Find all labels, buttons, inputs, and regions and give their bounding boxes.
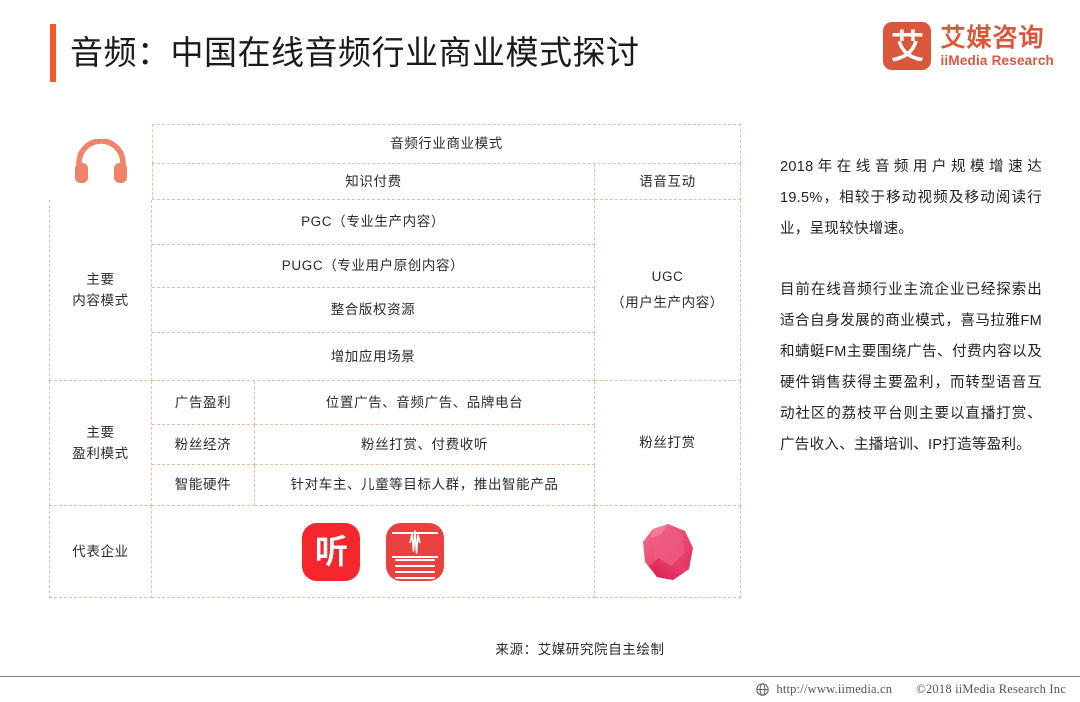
brand-logo: 艾 艾媒咨询 iiMedia Research	[883, 22, 1054, 70]
commentary-paragraph-1: 2018年在线音频用户规模增速达19.5%，相较于移动视频及移动阅读行业，呈现较…	[780, 152, 1042, 245]
qingting-lines	[395, 559, 435, 581]
brand-logo-text: 艾媒咨询 iiMedia Research	[940, 24, 1054, 69]
headphones-icon-svg	[73, 139, 129, 185]
page-footer: http://www.iimedia.cn ©2018 iiMedia Rese…	[756, 682, 1066, 697]
commentary-panel: 2018年在线音频用户规模增速达19.5%，相较于移动视频及移动阅读行业，呈现较…	[780, 152, 1042, 491]
ugc-subtitle: （用户生产内容）	[611, 290, 724, 316]
source-note: 来源：艾媒研究院自主绘制	[0, 638, 1080, 658]
commentary-paragraph-2: 目前在线音频行业主流企业已经探索出适合自身发展的商业模式，喜马拉雅FM和蜻蜓FM…	[780, 275, 1042, 461]
row-label-content-mode: 主要 内容模式	[49, 200, 152, 381]
ximalaya-fm-logo: 听	[302, 523, 360, 581]
content-item-pugc: PUGC（专业用户原创内容）	[152, 245, 595, 288]
companies-left-logos: 听	[302, 523, 444, 581]
column-header-knowledge-paid: 知识付费	[152, 164, 595, 200]
content-item-copyright: 整合版权资源	[152, 288, 595, 333]
brand-name-cn: 艾媒咨询	[940, 24, 1054, 52]
profit-label-fan-economy: 粉丝经济	[152, 425, 255, 465]
headphones-icon	[49, 124, 152, 200]
ugc-cell: UGC （用户生产内容）	[595, 200, 741, 381]
footer-divider	[0, 676, 1080, 677]
column-header-voice-interaction: 语音互动	[595, 164, 741, 200]
business-model-table: 音频行业商业模式 知识付费 语音互动 主要 内容模式 PGC（专业生产内容） P…	[49, 124, 741, 598]
ugc-title: UGC	[652, 264, 684, 290]
companies-left-cell: 听	[152, 506, 595, 598]
profit-detail-fan-economy: 粉丝打赏、付费收听	[255, 425, 595, 465]
globe-icon	[756, 683, 769, 696]
iimedia-logo-icon: 艾	[883, 22, 931, 70]
qingting-fm-logo	[386, 523, 444, 581]
qingting-wave-icon	[407, 529, 423, 557]
ximalaya-glyph: 听	[315, 535, 347, 568]
companies-right-cell	[595, 506, 741, 598]
content-item-pgc: PGC（专业生产内容）	[152, 200, 595, 245]
footer-copyright: ©2018 iiMedia Research Inc	[916, 682, 1066, 697]
profit-label-smart-hardware: 智能硬件	[152, 465, 255, 506]
page-header: 音频：中国在线音频行业商业模式探讨 艾 艾媒咨询 iiMedia Researc…	[0, 0, 1080, 100]
profit-right-fan-reward: 粉丝打赏	[595, 381, 741, 506]
profit-label-advertising: 广告盈利	[152, 381, 255, 425]
row-label-companies: 代表企业	[49, 506, 152, 598]
content-item-scenarios: 增加应用场景	[152, 333, 595, 381]
brand-name-en: iiMedia Research	[940, 52, 1054, 69]
title-accent-bar	[50, 24, 56, 82]
profit-detail-advertising: 位置广告、音频广告、品牌电台	[255, 381, 595, 425]
page-title: 音频：中国在线音频行业商业模式探讨	[70, 27, 640, 79]
lizhi-fm-logo	[641, 522, 695, 582]
table-title-row: 音频行业商业模式	[152, 124, 741, 164]
row-label-profit-mode: 主要 盈利模式	[49, 381, 152, 506]
footer-url[interactable]: http://www.iimedia.cn	[776, 682, 892, 697]
profit-detail-smart-hardware: 针对车主、儿童等目标人群，推出智能产品	[255, 465, 595, 506]
